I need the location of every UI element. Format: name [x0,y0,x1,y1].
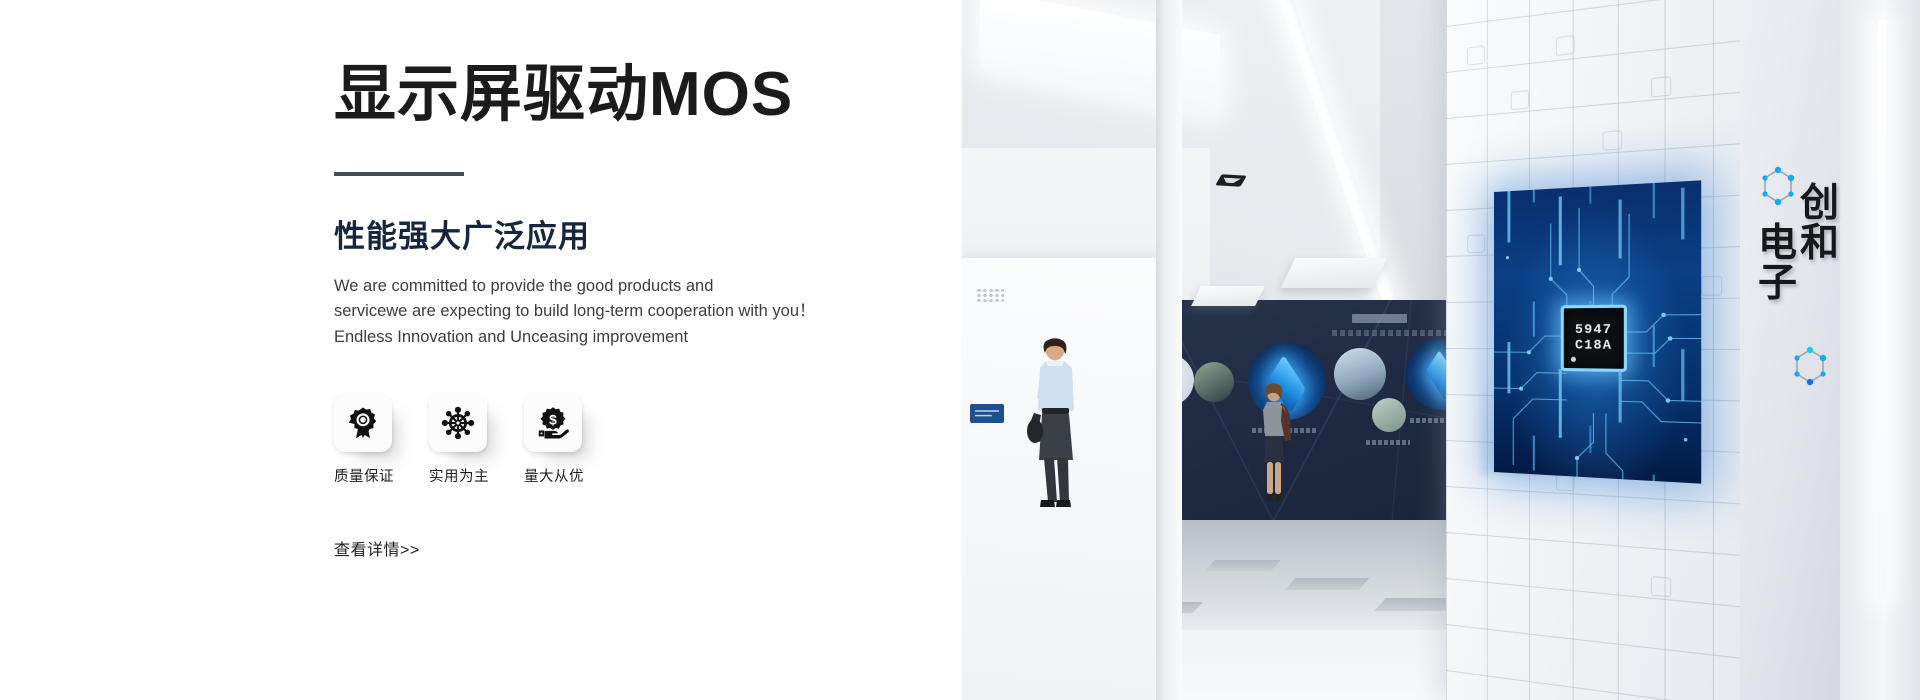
person-man [1022,335,1088,513]
feature-item-bulk-discount[interactable]: $ 量大从优 [524,394,597,486]
chip-label-line-1: 5947 [1575,322,1612,337]
tile-product-icon [1651,576,1671,597]
tile-product-icon [1511,90,1529,110]
photo-left-edge-fade [960,0,963,700]
hexagon-molecule-icon [1758,166,1798,210]
view-details-link[interactable]: 查看详情>> [334,536,420,560]
feature-label-practical: 实用为主 [429,465,502,486]
text-content: 显示屏驱动MOS 性能强大广泛应用 We are committed to pr… [334,60,934,560]
brand-char-3: 电 [1758,224,1797,264]
chip-label-line-2: C18A [1575,338,1612,353]
floor-tile [1285,578,1370,590]
white-pillar [1156,0,1182,700]
floor-inner-area [1156,520,1496,630]
feature-label-bulk-discount: 量大从优 [524,465,597,486]
brand-text-column-left: 电 子 [1758,224,1797,304]
description-line-3: Endless Innovation and Unceasing improve… [334,325,934,351]
feature-item-quality[interactable]: 质量保证 [334,394,407,486]
hero-banner: 显示屏驱动MOS 性能强大广泛应用 We are committed to pr… [0,0,1920,700]
tile-product-icon [1701,276,1722,296]
network-hub-icon [429,394,487,452]
floor-tile [1205,560,1281,571]
wall-sign-blue [970,404,1004,423]
vertical-light-strip [1878,20,1887,600]
description-line-1: We are committed to provide the good pro… [334,274,934,300]
feature-list: 质量保证 [334,394,934,486]
feature-item-practical[interactable]: 实用为主 [429,394,502,486]
hexagon-molecule-icon [1790,346,1830,390]
brand-char-4: 子 [1758,264,1797,304]
hand-money-icon: $ [524,394,582,452]
feature-label-quality: 质量保证 [334,465,407,486]
tile-product-icon [1467,234,1485,253]
led-display-screen: 5947 C18A [1494,180,1701,483]
brand-signage: 创 和 电 子 [1756,170,1848,400]
exhibit-photo-circle [1372,398,1406,432]
exhibit-photo-circle [1194,362,1234,402]
chip-graphic: 5947 C18A [1561,304,1627,371]
page-title: 显示屏驱动MOS [334,60,934,129]
brand-char-2: 和 [1800,224,1839,264]
tile-product-icon [1651,76,1671,97]
exhibit-caption [1366,440,1410,445]
description: We are committed to provide the good pro… [334,274,934,351]
svg-text:$: $ [549,412,557,428]
award-badge-icon [334,394,392,452]
chip-pin1-dot [1571,356,1576,361]
showroom-photo: 5947 C18A [960,0,1920,700]
text-pane: 显示屏驱动MOS 性能强大广泛应用 We are committed to pr… [0,0,960,700]
tile-product-icon [1467,45,1485,65]
description-line-2: servicewe are expecting to build long-te… [334,299,934,325]
person-woman [1252,382,1296,504]
brand-text-column-right: 创 和 [1800,184,1839,264]
ceiling-slab [1281,258,1388,288]
tile-product-icon [1556,35,1575,56]
exhibit-photo-circle [1334,348,1386,400]
title-divider [334,172,464,176]
sub-title: 性能强大广泛应用 [334,218,934,255]
brand-char-1: 创 [1800,184,1839,224]
tile-product-icon [1603,130,1623,151]
wall-sign-dots [976,288,1004,304]
ceiling-slab [1191,286,1265,306]
